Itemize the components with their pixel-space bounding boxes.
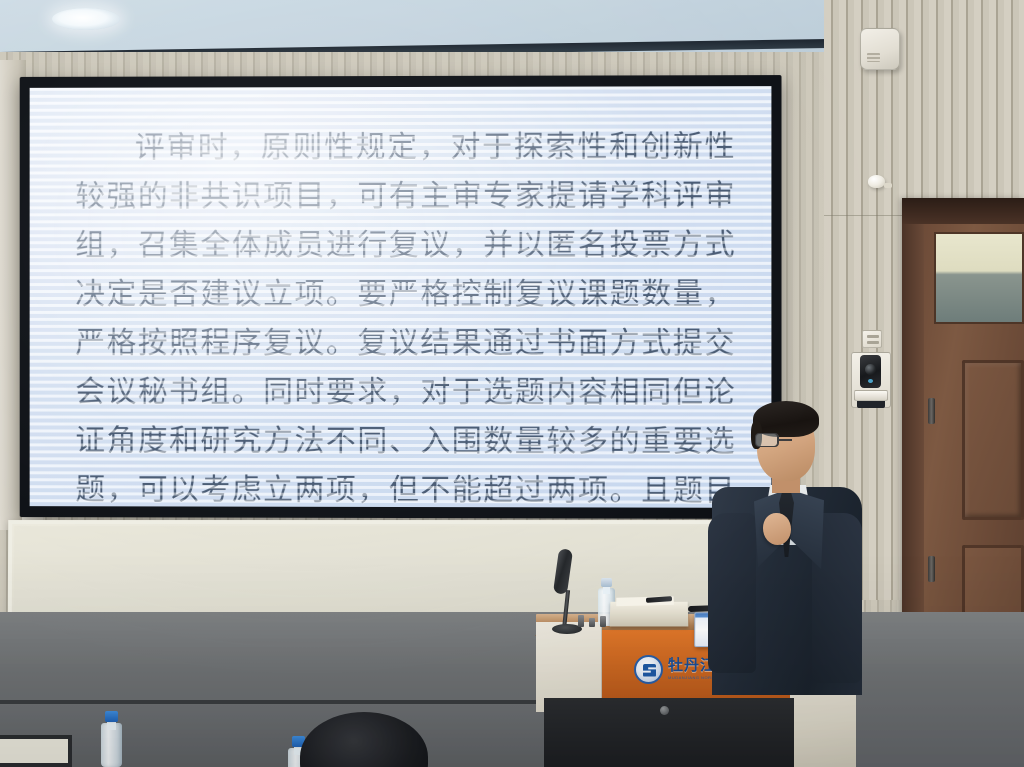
camera-lens-icon [865,364,876,375]
water-bottle [101,711,122,767]
whiteboard-surface [14,526,802,612]
podium-item [578,615,584,627]
dome-sensor-base [884,183,892,188]
door-raised-panel-lower [962,545,1024,618]
door-hinge-upper [928,398,935,424]
presenter [700,395,870,695]
eyeglass-lens-right [755,433,778,447]
podium-base [544,698,794,767]
door-hinge-lower [928,556,935,582]
wall-mounted-unit-icon [860,28,900,70]
slide-body-text: 评审时，原则性规定，对于探索性和创新性较强的非共识项目，可有主审专家提请学科评审… [75,122,735,508]
document-stack [610,602,689,627]
presenter-hair [753,401,819,437]
ceiling-light-icon [52,8,120,30]
bottle-cap [601,578,612,587]
projection-screen-bezel: 评审时，原则性规定，对于探索性和创新性较强的非共识项目，可有主审专家提请学科评审… [20,75,782,519]
ptz-camera-body [860,355,881,388]
podium-item [600,616,606,627]
podium-knob-icon [660,706,669,715]
presenter-hand [763,513,791,545]
dome-sensor-icon [868,175,885,188]
podium-small-items [578,613,612,627]
slide-paragraph: 评审时，原则性规定，对于探索性和创新性较强的非共识项目，可有主审专家提请学科评审… [75,122,735,508]
presenter-right-arm [708,513,756,673]
door-header-trim [902,198,1024,224]
whiteboard [8,520,808,618]
wall-outlet-icon [862,330,882,348]
projection-screen-surface: 评审时，原则性规定，对于探索性和创新性较强的非共识项目，可有主审专家提请学科评审… [30,86,772,508]
door-raised-panel-upper [962,360,1024,520]
presenter-eyeglasses-icon [755,433,817,448]
lecture-hall-scene: 评审时，原则性规定，对于探索性和创新性较强的非共识项目，可有主审专家提请学科评审… [0,0,1024,767]
podium-item [589,618,595,627]
door-glass-panel [934,232,1024,324]
university-seal-icon [634,655,663,684]
camera-led-indicator [868,379,873,383]
desk-document [0,735,72,767]
eyeglass-bridge [779,439,792,441]
bottle-cap [105,711,118,722]
